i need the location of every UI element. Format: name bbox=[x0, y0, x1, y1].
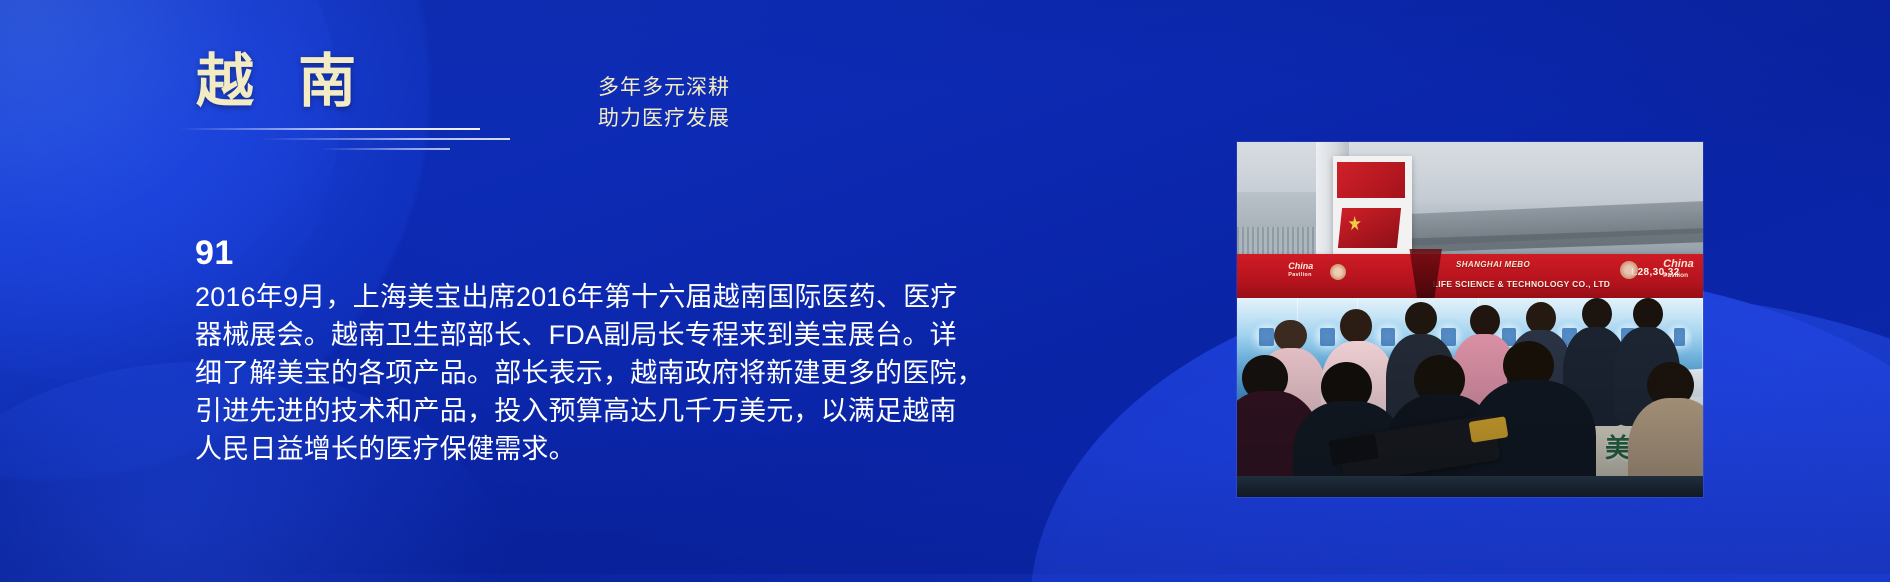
subtitle-block: 多年多元深耕 助力医疗发展 bbox=[598, 72, 730, 134]
subtitle-line-2: 助力医疗发展 bbox=[598, 103, 730, 134]
photo-scene: China Pavilion SHANGHAI MEBO LIFE SCIENC… bbox=[1237, 142, 1703, 497]
subtitle-line-1: 多年多元深耕 bbox=[598, 72, 730, 103]
paragraph-line: 器械展会。越南卫生部部长、FDA副局长专程来到美宝展台。详 bbox=[195, 316, 1125, 354]
title-block: 越 南 bbox=[196, 53, 370, 111]
paragraph-line: 引进先进的技术和产品，投入预算高达几千万美元，以满足越南 bbox=[195, 392, 1125, 430]
exhibition-booth-photo: China Pavilion SHANGHAI MEBO LIFE SCIENC… bbox=[1237, 142, 1703, 497]
page-title: 越 南 bbox=[196, 53, 370, 111]
divider-line-1 bbox=[180, 128, 480, 130]
slide-root: 越 南 多年多元深耕 助力医疗发展 91 2016年9月，上海美宝出席2016年… bbox=[0, 0, 1890, 582]
paragraph-line: 细了解美宝的各项产品。部长表示，越南政府将新建更多的医院， bbox=[195, 354, 1125, 392]
photo-gradient-overlay bbox=[1237, 142, 1703, 497]
divider-line-2 bbox=[260, 138, 510, 140]
paragraph-line: 2016年9月，上海美宝出席2016年第十六届越南国际医药、医疗 bbox=[195, 278, 1125, 316]
title-divider bbox=[150, 128, 580, 158]
item-number: 91 bbox=[195, 236, 1125, 272]
divider-line-3 bbox=[320, 148, 450, 150]
body-paragraph: 2016年9月，上海美宝出席2016年第十六届越南国际医药、医疗 器械展会。越南… bbox=[195, 278, 1125, 468]
footer-strip bbox=[0, 574, 1890, 582]
body-text-block: 91 2016年9月，上海美宝出席2016年第十六届越南国际医药、医疗 器械展会… bbox=[195, 236, 1125, 468]
paragraph-line: 人民日益增长的医疗保健需求。 bbox=[195, 430, 1125, 468]
